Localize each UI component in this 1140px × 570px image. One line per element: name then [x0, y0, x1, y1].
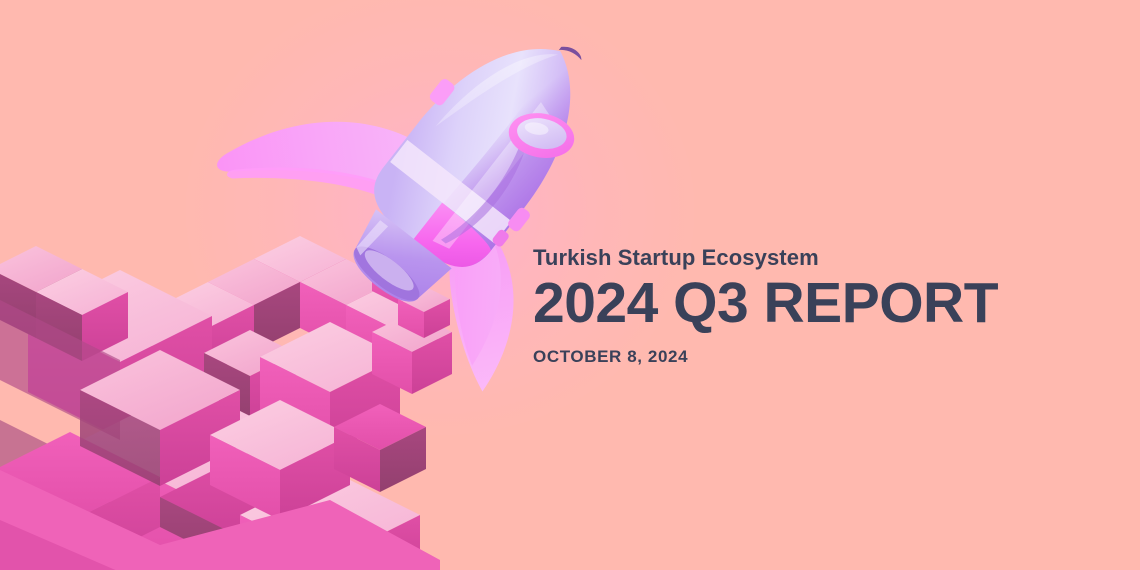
voxel-cube: [162, 282, 254, 374]
voxel-cube: [116, 305, 208, 397]
rocket-accent-band: [411, 203, 495, 284]
report-eyebrow: Turkish Startup Ecosystem: [533, 246, 1063, 269]
rocket-body: [358, 9, 614, 283]
voxel-exhaust-blocks: [0, 236, 452, 570]
rocket-tab: [428, 77, 457, 107]
voxel-shadow-band: [0, 300, 120, 540]
voxel-cube: [36, 269, 128, 361]
rocket-fin-right: [408, 221, 546, 366]
rocket-tab: [506, 206, 532, 234]
rocket-tab: [491, 228, 510, 248]
voxel-cube: [240, 470, 420, 570]
voxel-cube: [0, 246, 82, 338]
rocket-light-band: [390, 140, 511, 243]
rocket-antenna-icon: [559, 42, 584, 65]
title-block: Turkish Startup Ecosystem 2024 Q3 REPORT…: [533, 246, 1063, 366]
rocket-window: [505, 108, 578, 163]
voxel-cube: [210, 400, 350, 520]
rocket-seam: [433, 102, 556, 252]
voxel-cube: [28, 270, 212, 438]
voxel-floor-fill: [0, 470, 440, 570]
rocket-fin-left-edge: [226, 100, 399, 265]
voxel-cube: [346, 282, 438, 374]
voxel-cube: [208, 259, 300, 351]
page-title: 2024 Q3 REPORT: [533, 275, 1063, 332]
voxel-cube: [160, 452, 340, 570]
voxel-cube: [372, 312, 452, 394]
voxel-floor-fill-light: [0, 520, 120, 570]
rocket-glow: [180, 0, 700, 440]
rocket-seam-inner: [439, 125, 545, 252]
voxel-cube: [0, 432, 160, 570]
rocket-fin-left: [215, 51, 430, 264]
rocket-nose-highlight: [436, 22, 558, 158]
voxel-cube: [372, 252, 424, 304]
voxel-cube: [254, 236, 346, 328]
voxel-cube: [334, 404, 426, 492]
voxel-cube: [260, 322, 400, 452]
report-date: OCTOBER 8, 2024: [533, 348, 1063, 366]
voxel-cube: [80, 386, 300, 570]
voxel-cube: [398, 286, 450, 338]
rocket-nozzle: [339, 209, 452, 315]
voxel-cube: [80, 350, 240, 486]
voxel-cube: [300, 259, 392, 351]
voxel-cube: [204, 330, 296, 422]
report-cover: Turkish Startup Ecosystem 2024 Q3 REPORT…: [0, 0, 1140, 570]
